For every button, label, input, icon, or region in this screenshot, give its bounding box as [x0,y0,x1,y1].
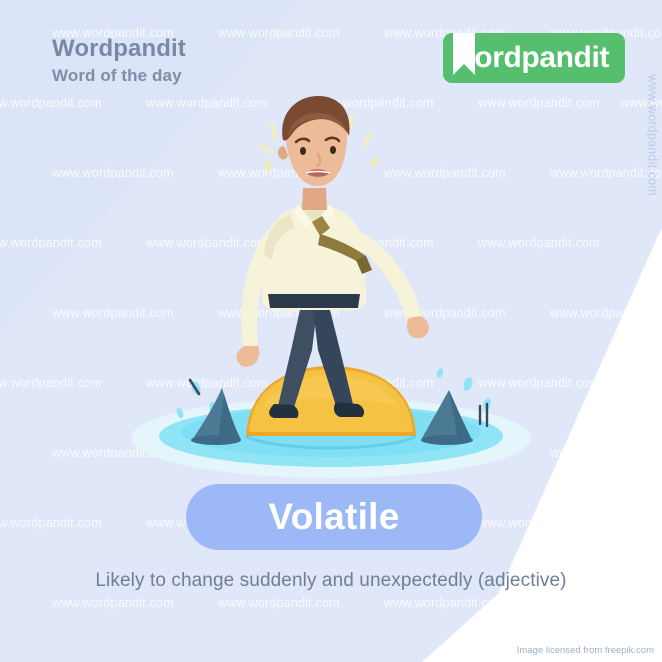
word-of-the-day-card: www.wordpandit.com www.wordpandit.com ww… [0,0,662,662]
image-credit: Image licensed from freepik.com [517,645,654,656]
word-pill: Volatile [186,484,482,550]
header: Wordpandit Word of the day [52,36,186,86]
header-subtitle: Word of the day [52,66,186,86]
illustration [0,88,662,488]
brand-title: Wordpandit [52,36,186,61]
bookmark-w-icon [451,33,477,83]
word-definition: Likely to change suddenly and unexpected… [0,570,662,592]
word-term: Volatile [268,496,399,538]
logo-text: ordpandit [474,43,609,73]
wordpandit-logo[interactable]: ordpandit [443,33,625,83]
